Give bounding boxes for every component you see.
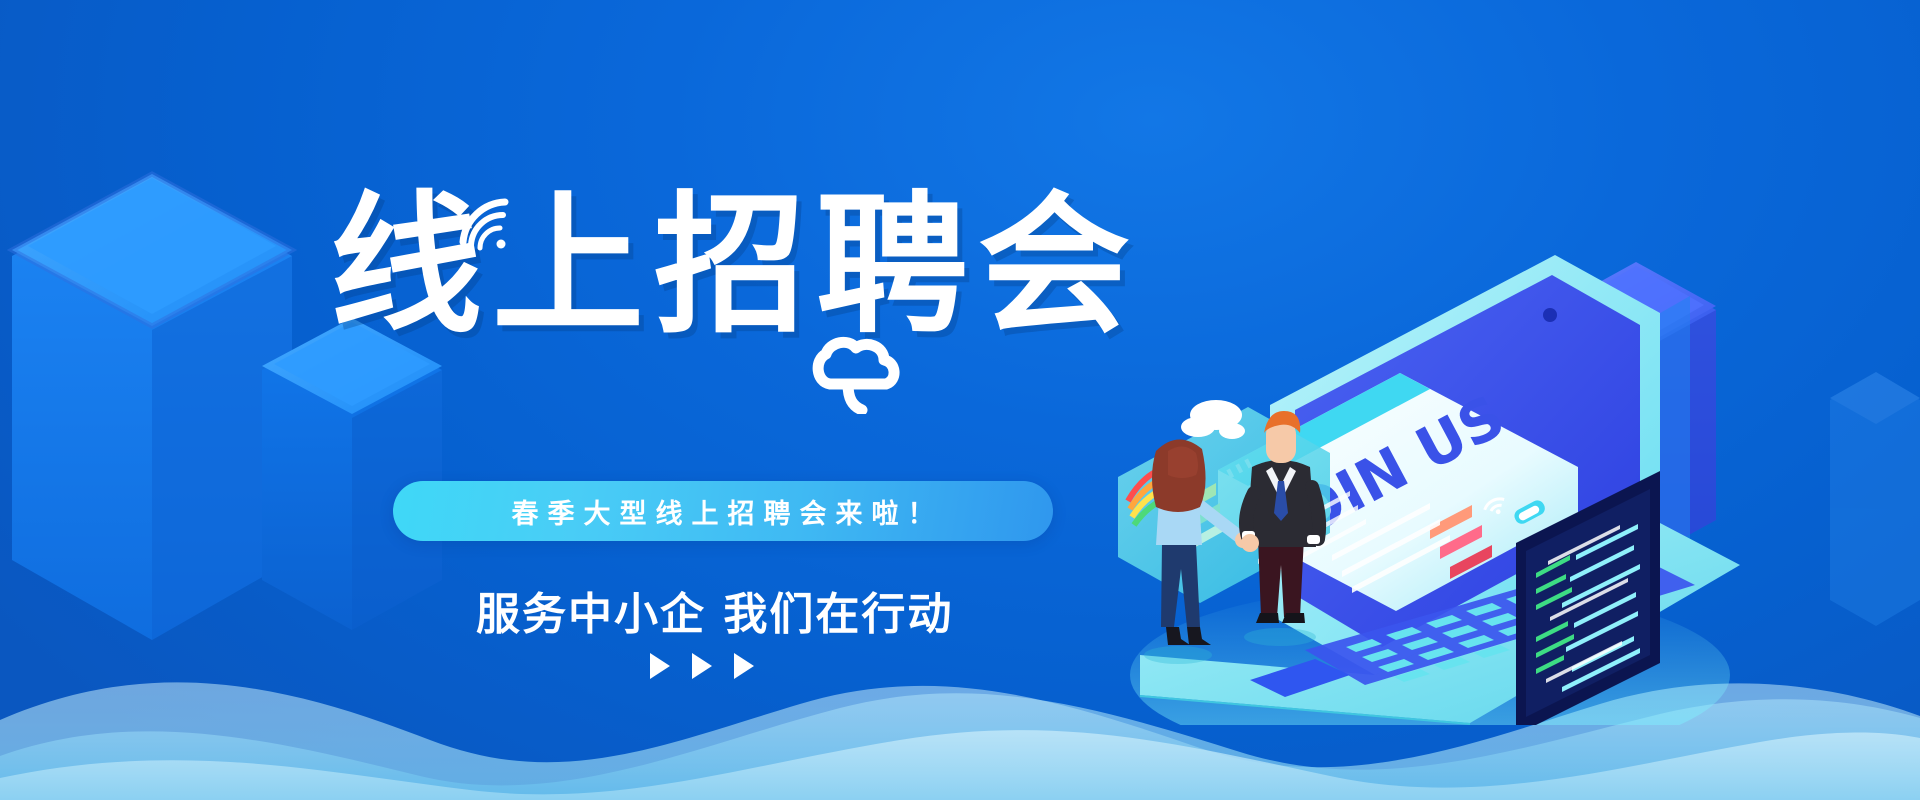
wifi-icon — [455, 196, 515, 254]
play-triangle-icon — [650, 653, 670, 679]
play-triangle-icon — [734, 653, 754, 679]
man-arm-left — [1312, 487, 1319, 539]
subtitle-ribbon-label: 春季大型线上招聘会来啦！ — [503, 492, 944, 531]
webcam-icon — [1543, 308, 1557, 322]
job-fair-banner: 线上招聘会 春季大型线上招聘会来啦！ 服务中小企 我们在行动 — [0, 0, 1920, 800]
subtitle-ribbon: 春季大型线上招聘会来啦！ — [393, 481, 1053, 541]
building-block-left-tall — [12, 174, 292, 640]
arrow-indicators — [650, 653, 754, 679]
online-job-fair-illustration: JOIN US — [1100, 255, 1820, 725]
figure-shadow — [1144, 646, 1212, 664]
building-block-left-short — [262, 318, 442, 630]
page-title: 线上招聘会 — [330, 190, 1140, 342]
play-triangle-icon — [692, 653, 712, 679]
building-block-ghost — [1830, 372, 1920, 626]
man-arm-right — [1246, 493, 1254, 537]
man-shoe-right — [1282, 613, 1305, 623]
man-hand — [1241, 534, 1259, 552]
figure-shadow — [1244, 628, 1316, 646]
man-cuff-left — [1307, 535, 1320, 544]
man-shoe-left — [1256, 613, 1279, 623]
cloud-icon — [800, 336, 910, 414]
tagline: 服务中小企 我们在行动 — [476, 578, 953, 642]
